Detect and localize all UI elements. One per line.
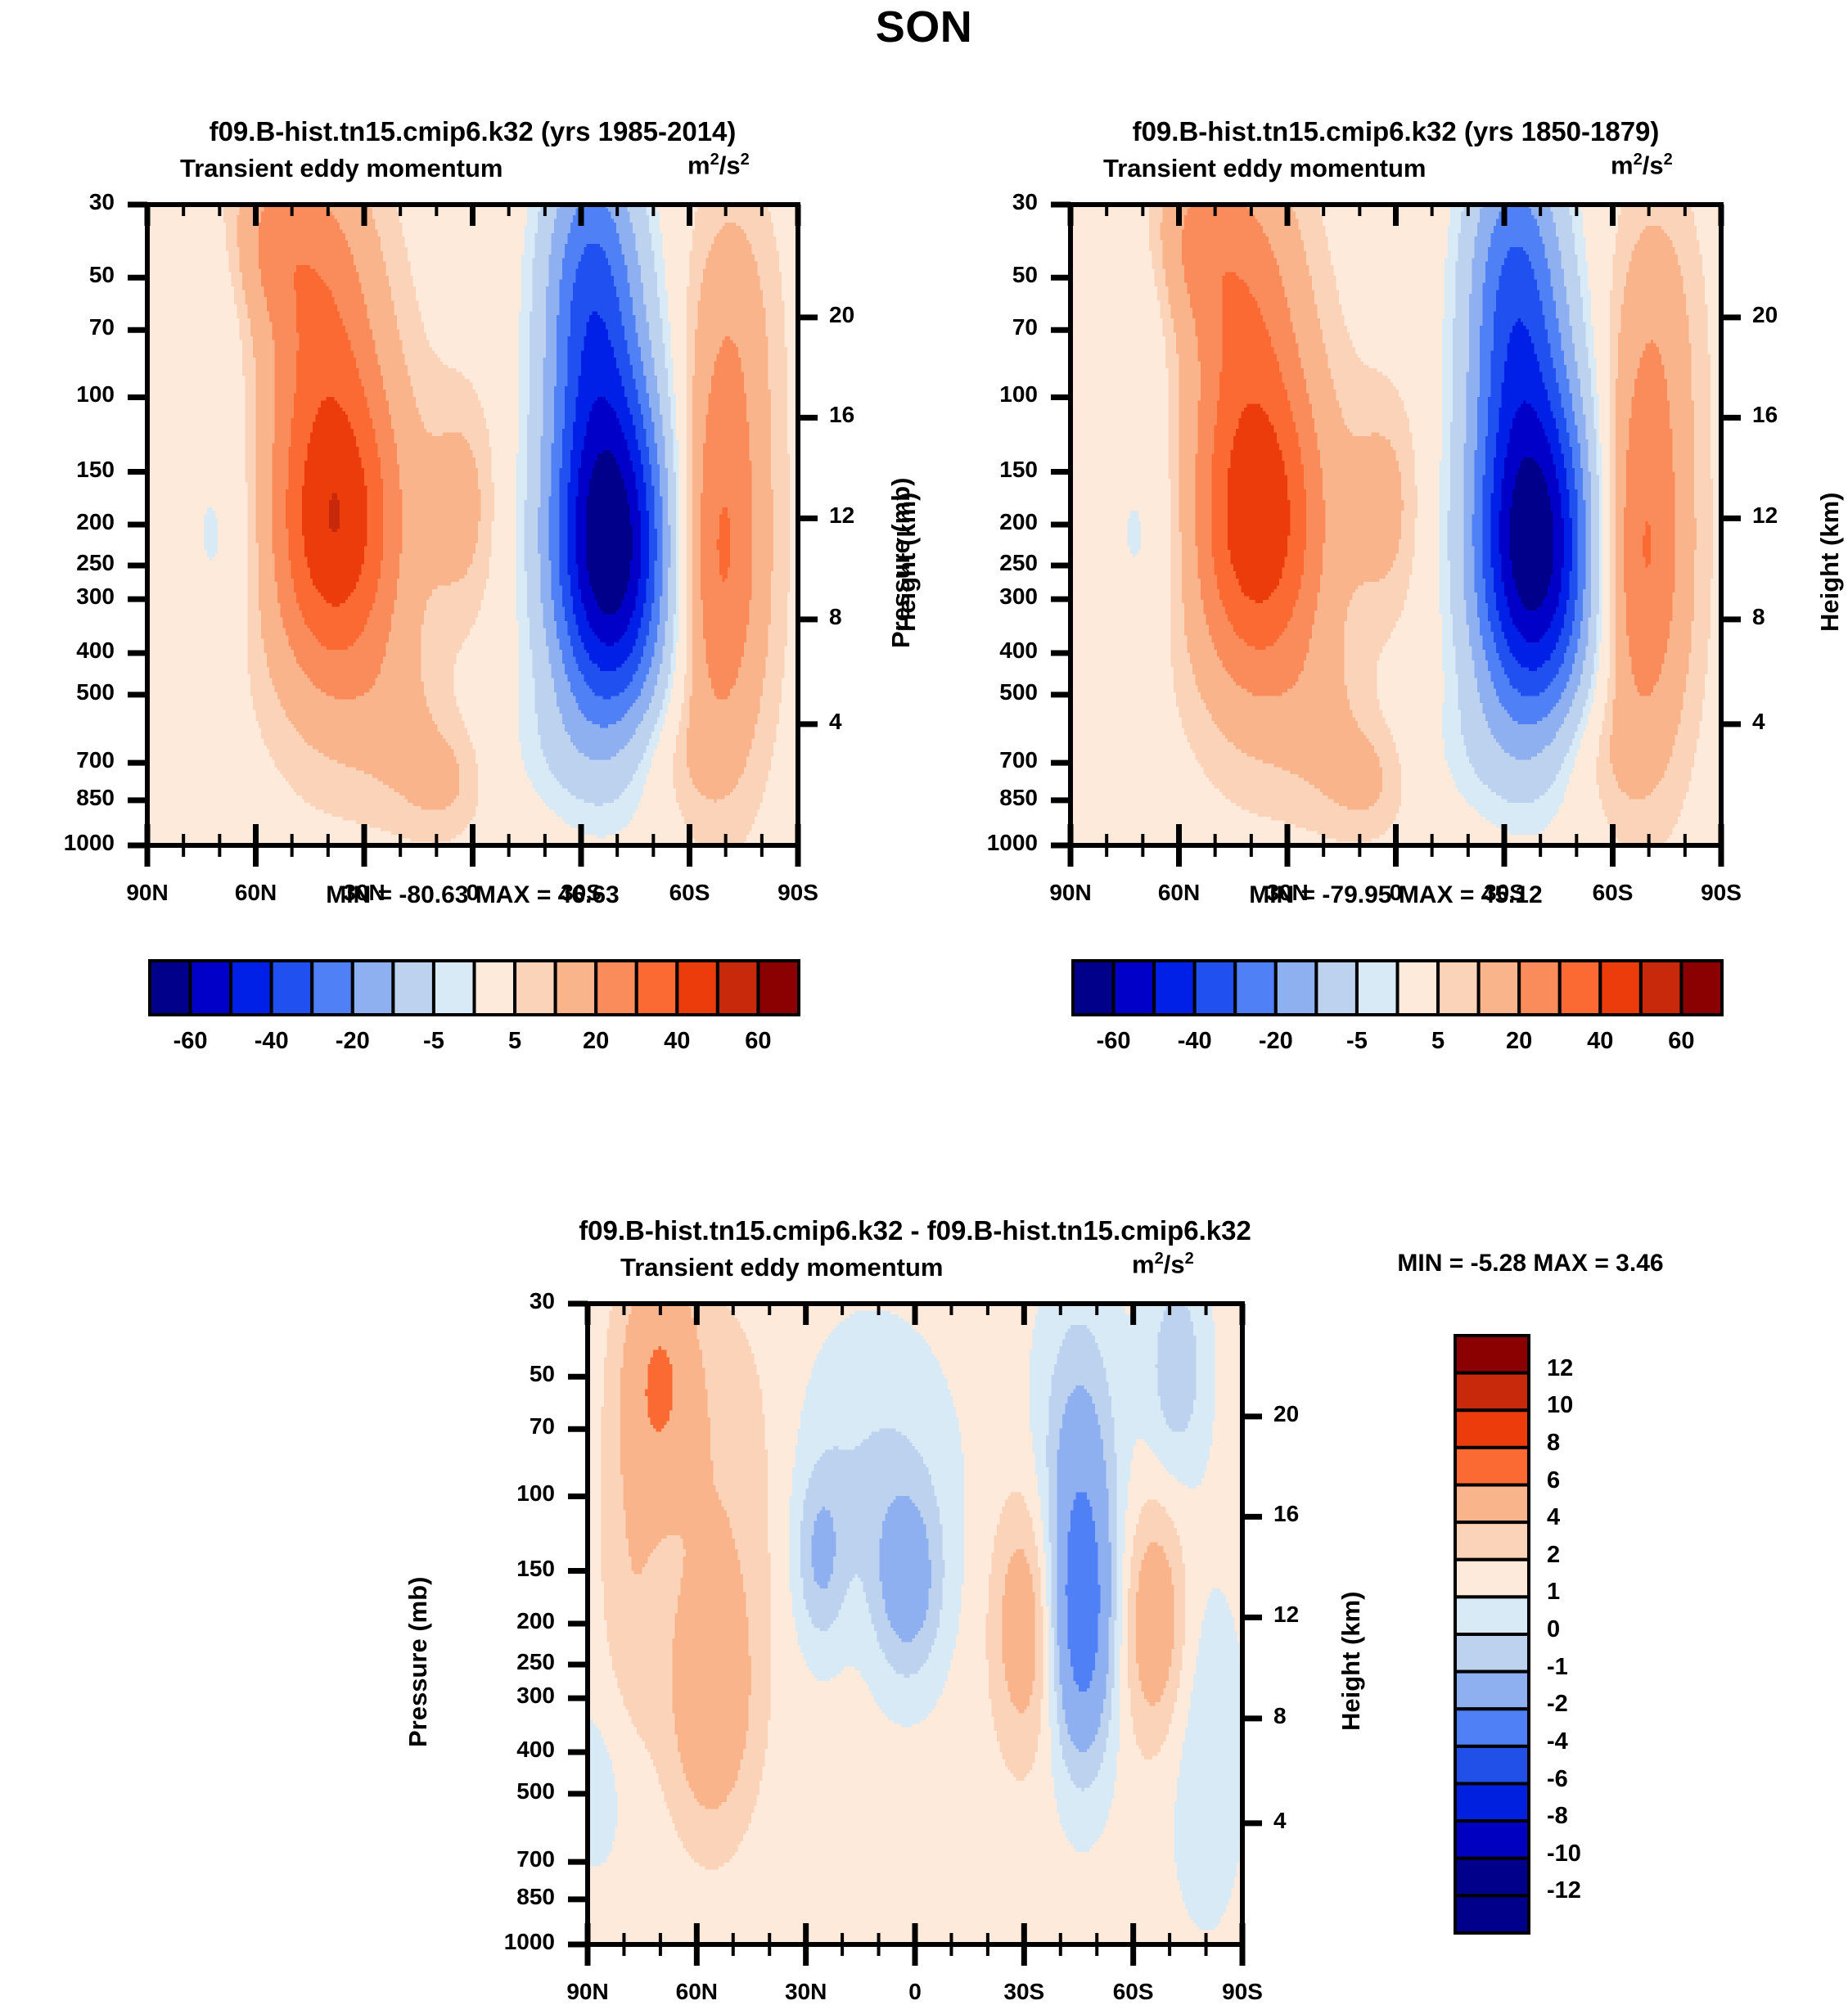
- y2-tick-label: 4: [829, 709, 842, 735]
- y-tick-label: 1000: [432, 1929, 555, 1955]
- minmax-label: MIN = -80.63 MAX = 46.63: [147, 881, 798, 909]
- y2-tick-label: 4: [1752, 709, 1765, 735]
- y-tick-label: 1000: [0, 830, 115, 856]
- y-tick-label: 100: [915, 381, 1038, 408]
- plot-area-top-right: [1070, 205, 1721, 845]
- y-tick-label: 850: [432, 1884, 555, 1910]
- y-tick-label: 850: [915, 785, 1038, 811]
- y-tick-label: 300: [432, 1683, 555, 1709]
- panel-title: f09.B-hist.tn15.cmip6.k32 (yrs 1850-1879…: [825, 116, 1848, 147]
- colorbar-tick-label: 4: [1547, 1504, 1560, 1531]
- y2-tick-label: 12: [1273, 1602, 1299, 1628]
- minmax-label: MIN = -5.28 MAX = 3.46: [1277, 1250, 1784, 1277]
- colorbar-tick-label: -60: [1077, 1028, 1151, 1055]
- x-tick-label: 30S: [991, 1979, 1057, 2005]
- y-tick-label: 400: [915, 638, 1038, 664]
- y-tick-label: 250: [0, 550, 115, 576]
- y2-tick-label: 4: [1273, 1808, 1287, 1834]
- units-label: m2/s2: [1132, 1250, 1194, 1279]
- y2-tick-label: 16: [1752, 402, 1778, 428]
- colorbar-tick-label: 12: [1547, 1355, 1573, 1382]
- x-tick-label: 90S: [1210, 1979, 1275, 2005]
- colorbar-horizontal[interactable]: [150, 961, 799, 1015]
- colorbar-tick-label: -40: [1158, 1028, 1232, 1055]
- y-tick-label: 700: [915, 747, 1038, 773]
- y2-tick-label: 20: [1273, 1401, 1299, 1427]
- colorbar-tick-label: 5: [478, 1028, 552, 1055]
- colorbar-tick-label: -40: [235, 1028, 309, 1055]
- colorbar-tick-label: -2: [1547, 1691, 1568, 1718]
- colorbar-tick-label: -20: [316, 1028, 390, 1055]
- colorbar-tick-label: 20: [559, 1028, 633, 1055]
- units-label: m2/s2: [687, 151, 750, 180]
- colorbar-tick-label: 60: [721, 1028, 795, 1055]
- colorbar-tick-label: -12: [1547, 1877, 1581, 1904]
- y2-axis-title: Height (km): [1336, 1591, 1366, 1731]
- y2-tick-label: 8: [1752, 604, 1765, 630]
- y2-tick-label: 8: [1273, 1703, 1287, 1729]
- y-tick-label: 200: [915, 509, 1038, 535]
- colorbar-tick-label: -60: [154, 1028, 228, 1055]
- y-tick-label: 250: [915, 550, 1038, 576]
- x-tick-label: 90N: [555, 1979, 620, 2005]
- y-tick-label: 70: [432, 1413, 555, 1440]
- y-tick-label: 30: [0, 189, 115, 215]
- y-tick-label: 150: [915, 457, 1038, 483]
- y-tick-label: 500: [0, 679, 115, 705]
- y-tick-label: 50: [0, 262, 115, 288]
- colorbar-tick-label: -20: [1239, 1028, 1313, 1055]
- plot-area-bottom-diff: [588, 1304, 1242, 1944]
- y-tick-label: 150: [0, 457, 115, 483]
- y-tick-label: 50: [915, 262, 1038, 288]
- y-tick-label: 200: [432, 1608, 555, 1634]
- y-tick-label: 70: [0, 314, 115, 340]
- y-tick-label: 700: [432, 1846, 555, 1872]
- y-tick-label: 200: [0, 509, 115, 535]
- colorbar-tick-label: 60: [1644, 1028, 1718, 1055]
- y-tick-label: 50: [432, 1361, 555, 1387]
- y-tick-label: 400: [432, 1737, 555, 1763]
- y2-tick-label: 16: [1273, 1501, 1299, 1527]
- y-tick-label: 300: [0, 583, 115, 610]
- x-tick-label: 30N: [773, 1979, 839, 2005]
- colorbar-tick-label: -5: [1320, 1028, 1394, 1055]
- figure-root: SON f09.B-hist.tn15.cmip6.k32 (yrs 1985-…: [0, 0, 1848, 1952]
- y-tick-label: 500: [915, 679, 1038, 705]
- y-tick-label: 30: [432, 1288, 555, 1314]
- colorbar-tick-label: 5: [1401, 1028, 1475, 1055]
- colorbar-tick-label: 20: [1482, 1028, 1556, 1055]
- y2-tick-label: 20: [1752, 302, 1778, 328]
- y2-tick-label: 12: [1752, 502, 1778, 529]
- field-label: Transient eddy momentum: [620, 1253, 943, 1282]
- y2-axis-title: Height (km): [1815, 492, 1845, 632]
- y-tick-label: 850: [0, 785, 115, 811]
- y2-tick-label: 16: [829, 402, 854, 428]
- colorbar-tick-label: 40: [1563, 1028, 1637, 1055]
- minmax-label: MIN = -79.95 MAX = 45.12: [1070, 881, 1721, 909]
- colorbar-tick-label: -10: [1547, 1841, 1581, 1868]
- panel-title: f09.B-hist.tn15.cmip6.k32 - f09.B-hist.t…: [342, 1215, 1488, 1246]
- x-tick-label: 60S: [1101, 1979, 1166, 2005]
- y-tick-label: 100: [432, 1480, 555, 1507]
- colorbar-horizontal[interactable]: [1073, 961, 1722, 1015]
- y-tick-label: 250: [432, 1649, 555, 1675]
- y-tick-label: 400: [0, 638, 115, 664]
- units-label: m2/s2: [1611, 151, 1673, 180]
- colorbar-tick-label: 2: [1547, 1542, 1560, 1569]
- colorbar-tick-label: 8: [1547, 1430, 1560, 1457]
- field-label: Transient eddy momentum: [1103, 154, 1426, 183]
- colorbar-tick-label: 0: [1547, 1616, 1560, 1643]
- plot-area-top-left: [147, 205, 798, 845]
- y2-tick-label: 20: [829, 302, 854, 328]
- colorbar-tick-label: -6: [1547, 1766, 1568, 1793]
- y2-tick-label: 8: [829, 604, 842, 630]
- y2-tick-label: 12: [829, 502, 854, 529]
- field-label: Transient eddy momentum: [180, 154, 503, 183]
- y-tick-label: 700: [0, 747, 115, 773]
- y-tick-label: 150: [432, 1556, 555, 1582]
- colorbar-tick-label: -1: [1547, 1654, 1568, 1681]
- y-tick-label: 70: [915, 314, 1038, 340]
- x-tick-label: 60N: [664, 1979, 729, 2005]
- colorbar-tick-label: 40: [640, 1028, 714, 1055]
- y-tick-label: 500: [432, 1778, 555, 1804]
- figure-supertitle: SON: [0, 2, 1848, 52]
- colorbar-tick-label: 6: [1547, 1467, 1560, 1494]
- y-axis-title: Pressure (mb): [886, 477, 916, 647]
- y-tick-label: 100: [0, 381, 115, 408]
- colorbar-tick-label: 1: [1547, 1579, 1560, 1606]
- colorbar-vertical[interactable]: [1455, 1336, 1529, 1933]
- colorbar-tick-label: 10: [1547, 1392, 1573, 1419]
- colorbar-tick-label: -5: [397, 1028, 471, 1055]
- x-tick-label: 0: [882, 1979, 948, 2005]
- y-tick-label: 300: [915, 583, 1038, 610]
- y-axis-title: Pressure (mb): [403, 1576, 433, 1746]
- y-tick-label: 30: [915, 189, 1038, 215]
- y-tick-label: 1000: [915, 830, 1038, 856]
- colorbar-tick-label: -4: [1547, 1728, 1568, 1755]
- colorbar-tick-label: -8: [1547, 1803, 1568, 1830]
